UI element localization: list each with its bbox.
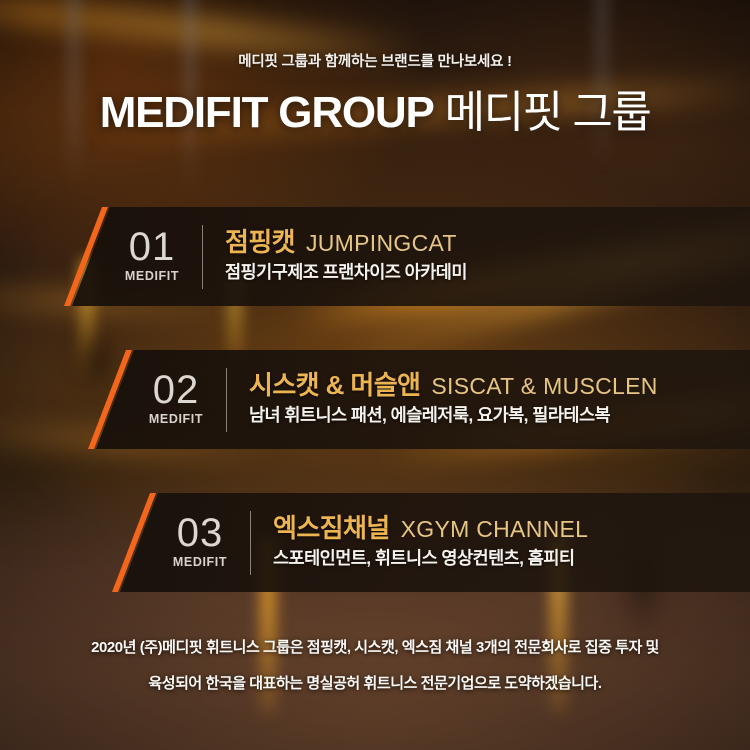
card-text-block: 점핑캣 JUMPINGCAT 점핑기구제조 프랜차이즈 아카데미	[225, 229, 467, 284]
card-number: 03	[154, 514, 246, 552]
card-brand-ko: 시스캣 & 머슬앤	[249, 372, 420, 398]
card-content: 01 MEDIFIT 점핑캣 JUMPINGCAT 점핑기구제조 프랜차이즈 아…	[106, 207, 467, 306]
card-description: 점핑기구제조 프랜차이즈 아카데미	[225, 264, 467, 282]
card-number-label: MEDIFIT	[154, 555, 246, 569]
card-brand-line: 엑스짐채널 XGYM CHANNEL	[273, 515, 588, 541]
card-content: 03 MEDIFIT 엑스짐채널 XGYM CHANNEL 스포테인먼트, 휘트…	[154, 493, 588, 592]
page-title: MEDIFIT GROUP 메디핏 그룹	[0, 91, 750, 135]
header-subtitle: 메디핏 그룹과 함께하는 브랜드를 만나보세요 !	[0, 55, 750, 70]
banner-header: 메디핏 그룹과 함께하는 브랜드를 만나보세요 ! MEDIFIT GROUP …	[0, 0, 750, 135]
card-brand-ko: 점핑캣	[225, 229, 295, 255]
card-brand-en: JUMPINGCAT	[306, 232, 457, 255]
card-number-label: MEDIFIT	[130, 412, 222, 426]
card-content: 02 MEDIFIT 시스캣 & 머슬앤 SISCAT & MUSCLEN 남녀…	[130, 350, 658, 449]
brand-card-03[interactable]: 03 MEDIFIT 엑스짐채널 XGYM CHANNEL 스포테인먼트, 휘트…	[0, 493, 750, 592]
card-divider	[250, 511, 251, 575]
brand-card-01[interactable]: 01 MEDIFIT 점핑캣 JUMPINGCAT 점핑기구제조 프랜차이즈 아…	[0, 207, 750, 306]
card-brand-ko: 엑스짐채널	[273, 515, 390, 541]
card-brand-line: 시스캣 & 머슬앤 SISCAT & MUSCLEN	[249, 372, 658, 398]
card-text-block: 엑스짐채널 XGYM CHANNEL 스포테인먼트, 휘트니스 영상컨텐츠, 홈…	[273, 515, 588, 570]
page-title-ko: 메디핏 그룹	[445, 88, 651, 137]
card-number: 01	[106, 228, 198, 266]
card-text-block: 시스캣 & 머슬앤 SISCAT & MUSCLEN 남녀 휘트니스 패션, 에…	[249, 372, 658, 427]
card-number-block: 01 MEDIFIT	[106, 228, 198, 285]
card-divider	[226, 368, 227, 432]
brand-card-02[interactable]: 02 MEDIFIT 시스캣 & 머슬앤 SISCAT & MUSCLEN 남녀…	[0, 350, 750, 449]
card-description: 남녀 휘트니스 패션, 에슬레저룩, 요가복, 필라테스복	[249, 407, 658, 425]
card-number-block: 02 MEDIFIT	[130, 371, 222, 428]
promo-banner: 메디핏 그룹과 함께하는 브랜드를 만나보세요 ! MEDIFIT GROUP …	[0, 0, 750, 750]
footer-line-2: 육성되어 한국을 대표하는 명실공허 휘트니스 전문기업으로 도약하겠습니다.	[0, 676, 750, 691]
card-description: 스포테인먼트, 휘트니스 영상컨텐츠, 홈피티	[273, 550, 588, 568]
card-number-label: MEDIFIT	[106, 269, 198, 283]
card-number-block: 03 MEDIFIT	[154, 514, 246, 571]
card-brand-line: 점핑캣 JUMPINGCAT	[225, 229, 467, 255]
page-title-en: MEDIFIT GROUP	[100, 88, 434, 137]
footer-paragraph: 2020년 (주)메디핏 휘트니스 그룹은 점핑캣, 시스캣, 엑스짐 채널 3…	[0, 640, 750, 691]
card-number: 02	[130, 371, 222, 409]
card-brand-en: SISCAT & MUSCLEN	[431, 375, 657, 398]
card-brand-en: XGYM CHANNEL	[401, 518, 589, 541]
card-divider	[202, 225, 203, 289]
brand-card-list: 01 MEDIFIT 점핑캣 JUMPINGCAT 점핑기구제조 프랜차이즈 아…	[0, 207, 750, 592]
footer-line-1: 2020년 (주)메디핏 휘트니스 그룹은 점핑캣, 시스캣, 엑스짐 채널 3…	[0, 640, 750, 655]
